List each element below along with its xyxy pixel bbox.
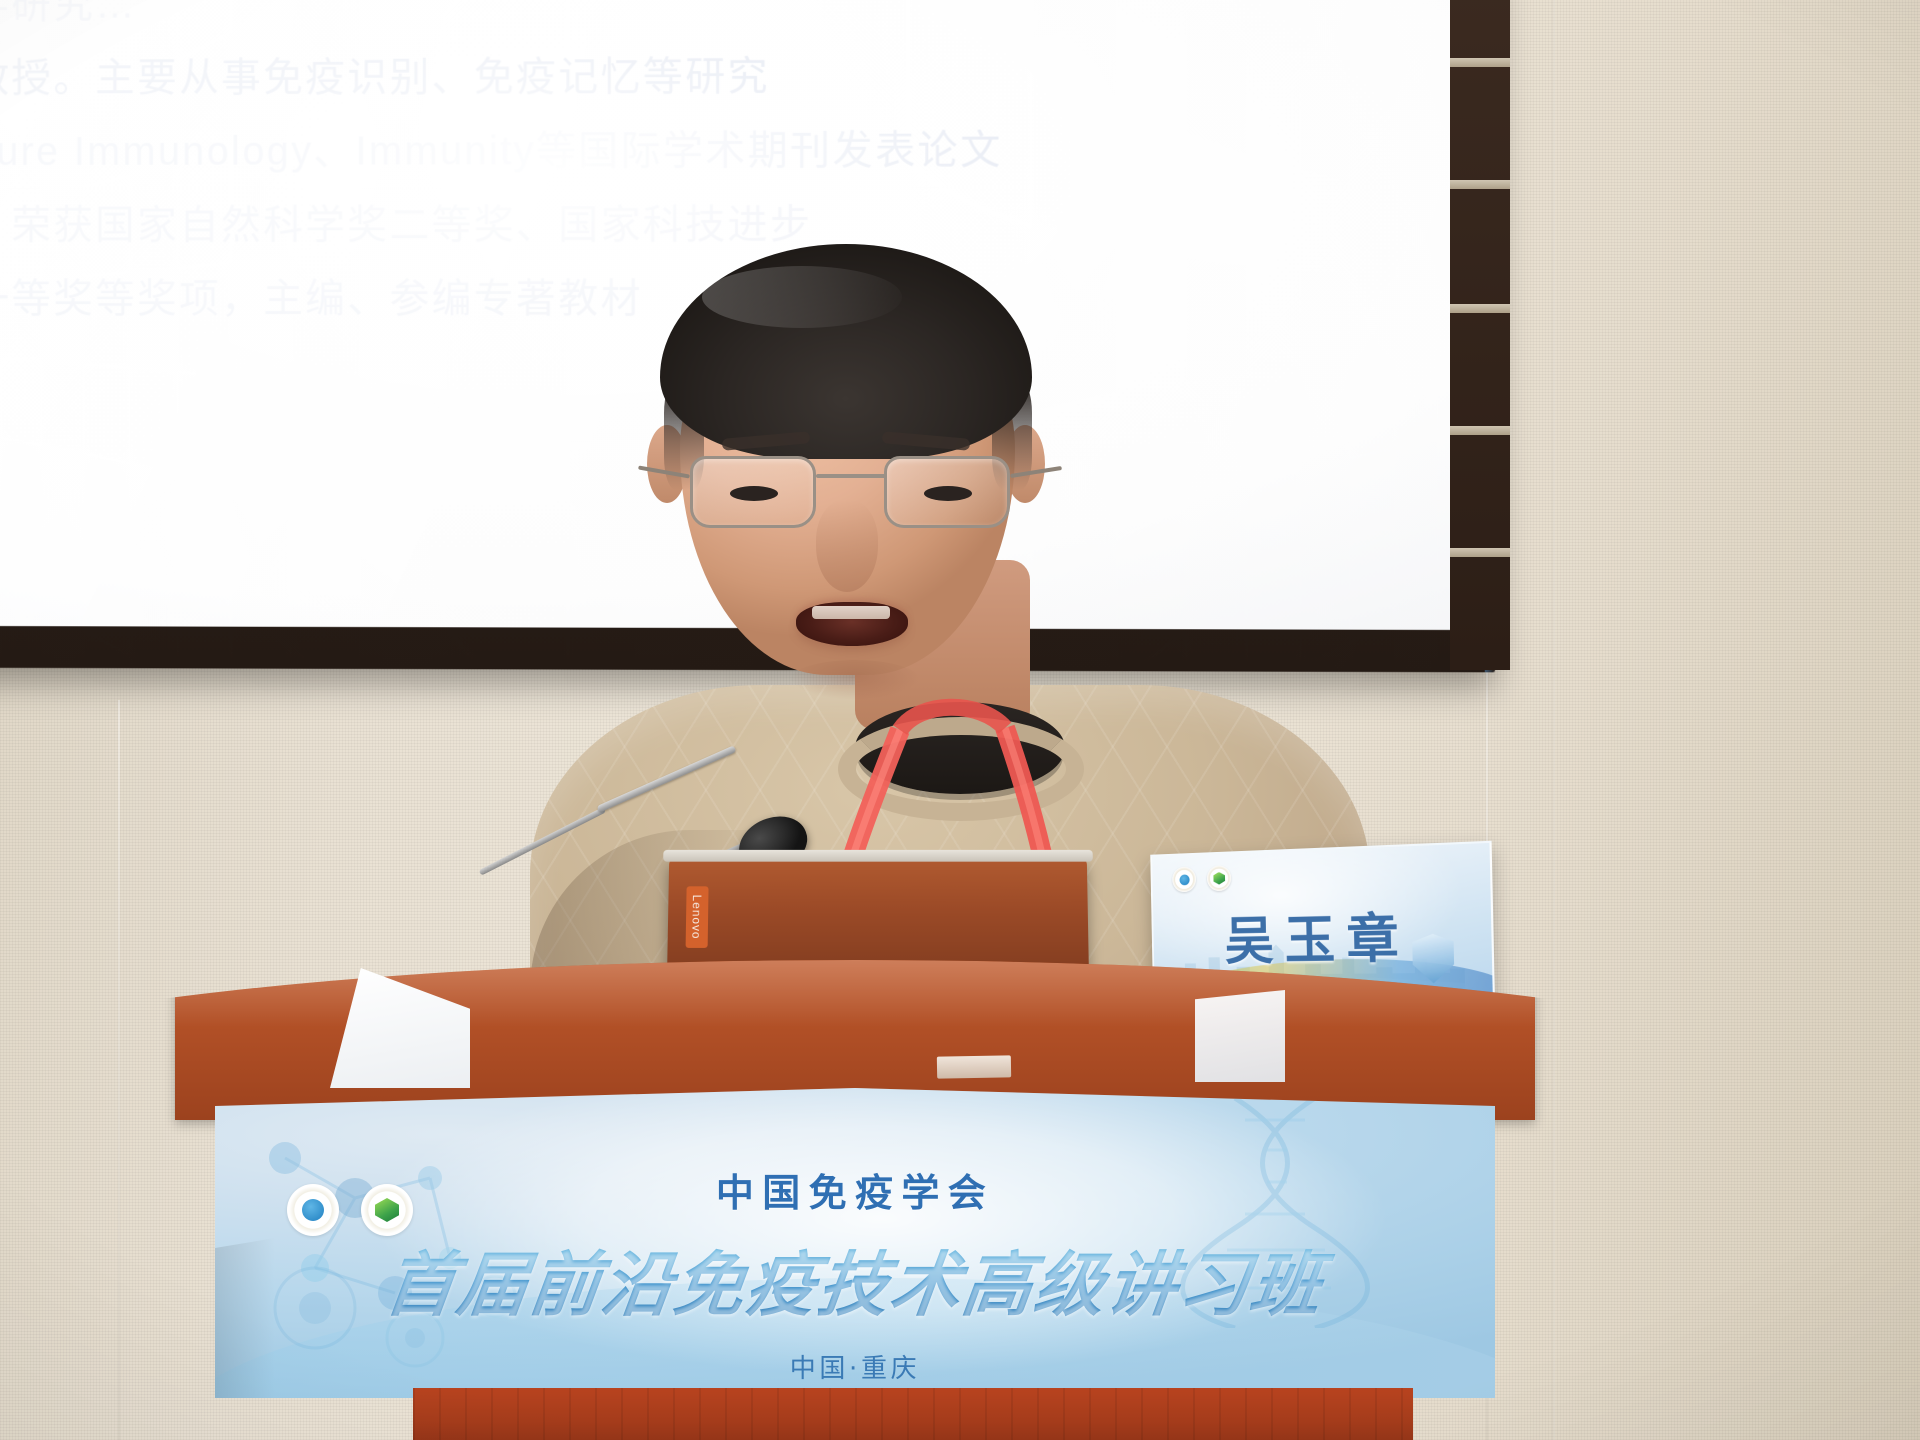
sweater-collar-rib [838, 717, 1084, 821]
laptop-lid-edge [663, 850, 1093, 862]
slide-line: Nature Immunology、Immunity等国际学术期刊发表论文 [0, 113, 1463, 189]
nose [816, 500, 878, 592]
wall-panel-seam [1552, 0, 1555, 1440]
cis-blue-emblem-icon [1172, 866, 1196, 892]
banner-text-block: 中国免疫学会 首届前沿免疫技术高级讲习班 中国·重庆 2024年11月23日-2… [215, 1088, 1495, 1398]
chin-shadow [790, 660, 920, 700]
banner-organization: 中国免疫学会 [215, 1162, 1495, 1217]
mouth [796, 602, 908, 646]
podium-wood-base [413, 1388, 1413, 1440]
paper-card-right [1195, 990, 1285, 1082]
nameplate-logos [1172, 865, 1231, 892]
wall-seam-left [118, 700, 120, 1440]
lenovo-logo-icon: Lenovo [686, 886, 709, 948]
green-hexagon-emblem-icon [1207, 865, 1232, 891]
podium-banner: 中国免疫学会 首届前沿免疫技术高级讲习班 中国·重庆 2024年11月23日-2… [215, 1088, 1495, 1398]
hair [660, 244, 1032, 459]
conference-photo: 疫学研究… 室教授。主要从事免疫识别、免疫记忆等研究 Nature Immuno… [0, 0, 1920, 1440]
lenovo-logo-text: Lenovo [690, 895, 705, 940]
speaker-figure [600, 230, 1300, 950]
wall-slat-column [1450, 0, 1510, 670]
podium-tape-strip [937, 1055, 1011, 1078]
slide-line: 室教授。主要从事免疫识别、免疫记忆等研究 [0, 38, 1463, 115]
banner-location: 中国·重庆 [215, 1348, 1495, 1385]
slide-line: 疫学研究… [0, 0, 1463, 42]
banner-title: 首届前沿免疫技术高级讲习班 [215, 1229, 1495, 1330]
